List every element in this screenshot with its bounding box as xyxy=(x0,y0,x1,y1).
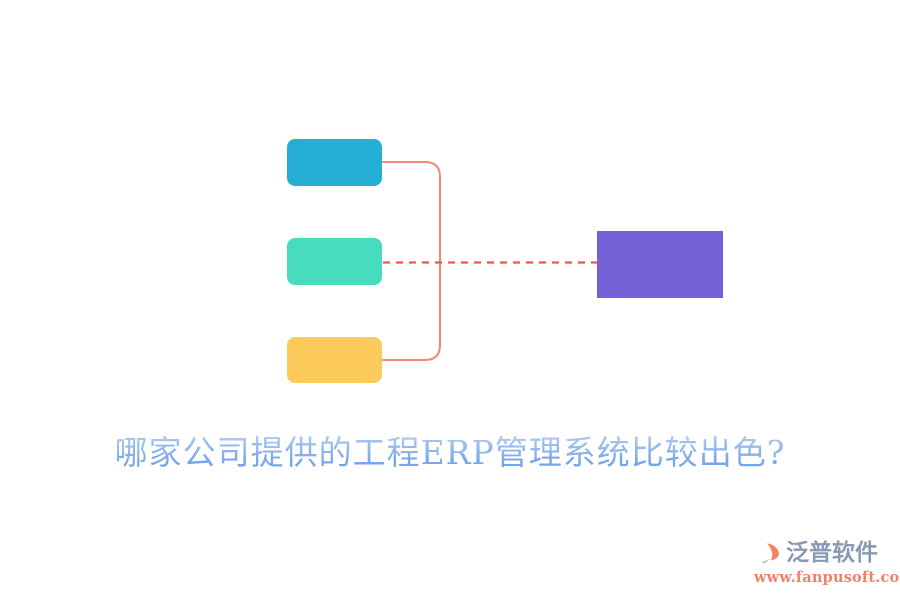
fanpu-leaf-logo-icon xyxy=(754,539,782,567)
diagram-node-purple[interactable] xyxy=(597,231,723,298)
diagram-node-blue[interactable] xyxy=(287,139,382,186)
page-title: 哪家公司提供的工程ERP管理系统比较出色? xyxy=(0,428,900,478)
connector-blue-to-spine xyxy=(383,162,440,262)
logo-row: 泛普软件 xyxy=(754,538,882,568)
logo-url: www.fanpusoft.com xyxy=(754,569,882,586)
diagram-connectors xyxy=(0,0,900,600)
diagram-node-yellow[interactable] xyxy=(287,337,382,383)
watermark: 泛普软件 www.fanpusoft.com xyxy=(754,538,882,586)
connector-yellow-to-spine xyxy=(383,262,440,360)
logo-wordmark: 泛普软件 xyxy=(786,539,878,567)
poster-canvas: 哪家公司提供的工程ERP管理系统比较出色? 泛普软件 www.fanpusoft… xyxy=(0,0,900,600)
diagram-node-green[interactable] xyxy=(287,238,382,285)
